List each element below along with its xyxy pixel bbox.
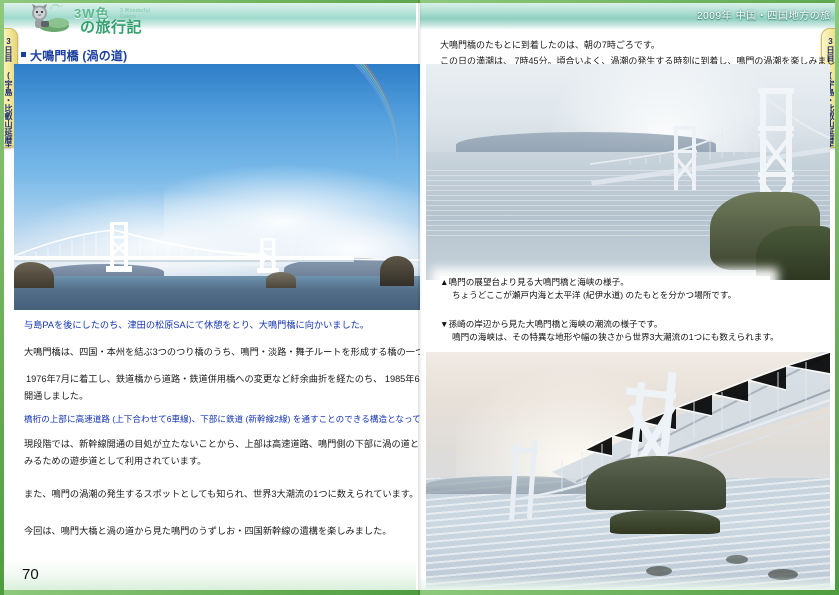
caption-bottom: ▼孫崎の岸辺から見た大鳴門橋と海峡の潮流の様子です。 鳴門の海峡は、その特異な地… bbox=[440, 318, 792, 348]
caption-line: 鳴門の海峡は、その特異な地形や幅の狭さから世界3大潮流の1つにも数えられます。 bbox=[440, 331, 792, 344]
onaruto-bridge-from-observatory-photo bbox=[426, 64, 830, 280]
header-title: 2009年 中国・四国地方の旅 bbox=[697, 7, 831, 22]
foreground-rock bbox=[380, 256, 414, 286]
paragraph-line: 今回は、鳴門大橋と渦の道から見た鳴門のうずしお・四国新幹線の遺構を楽しみました。 bbox=[24, 524, 392, 539]
paragraph-line: 1976年7月に着工し、鉄道橋から道路・鉄道併用橋への変更など紆余曲折を経たのち… bbox=[26, 372, 420, 387]
sidebar-index-tab-left-label: 3日目 (宇島・比叡山延暦寺) bbox=[4, 37, 13, 148]
page-title: 大鳴門橋 (渦の道) bbox=[30, 47, 127, 64]
paragraph-line: 現段階では、新幹線開通の目処が立たないことから、上部は高速道路、鳴門側の下部に渦… bbox=[24, 437, 420, 452]
binding-gutter bbox=[418, 0, 422, 595]
suspension-bridge-silhouette bbox=[14, 210, 420, 280]
caption-line: ちょうどここが瀬戸内海と太平洋 (紀伊水道) のたもとを分かつ場所です。 bbox=[440, 289, 770, 302]
rainbow-over-onaruto-bridge-photo bbox=[14, 64, 420, 310]
paragraph-line: みるための遊歩道として利用されています。 bbox=[24, 454, 206, 469]
site-logo[interactable]: 3W色 3 Wonderful Colors の旅行記 bbox=[28, 0, 158, 34]
paragraph-line: 開通しました。 bbox=[24, 389, 88, 404]
page-number: 70 bbox=[22, 566, 39, 583]
left-page: 3W色 3 Wonderful Colors の旅行記 3日目 (宇島・比叡山延… bbox=[0, 0, 420, 595]
paragraph-line: 大鳴門橋は、四国・本州を結ぶ3つのつり橋のうち、鳴門・淡路・舞子ルートを形成する… bbox=[24, 345, 420, 360]
shore-rock bbox=[646, 566, 672, 576]
paragraph-line: 橋桁の上部に高速道路 (上下合わせて6車線)、下部に鉄道 (新幹線2線) を通す… bbox=[24, 412, 420, 427]
logo-brand-tail: の旅行記 bbox=[80, 16, 142, 37]
right-page: 2009年 中国・四国地方の旅 3日目 (宇島・比叡山延暦寺) 大鳴門橋のたもと… bbox=[420, 0, 839, 595]
section-bullet-icon bbox=[21, 52, 26, 57]
islet-base bbox=[610, 510, 720, 534]
small-islet bbox=[266, 272, 296, 288]
caption-line: ▲鳴門の展望台より見る大鳴門橋と海峡の様子。 bbox=[440, 276, 770, 289]
onaruto-bridge-underside-tidal-current-photo bbox=[426, 352, 830, 590]
paragraph-line: 与島PAを後にしたのち、津田の松原SAにて休憩をとり、大鳴門橋に向かいました。 bbox=[24, 318, 369, 333]
sea-surface bbox=[14, 276, 420, 310]
caption-line: ▼孫崎の岸辺から見た大鳴門橋と海峡の潮流の様子です。 bbox=[440, 318, 792, 331]
foreground-islet bbox=[586, 456, 726, 510]
magazine-spread: 3W色 3 Wonderful Colors の旅行記 3日目 (宇島・比叡山延… bbox=[0, 0, 839, 595]
left-page-footer-band bbox=[4, 560, 416, 590]
intro-line: 大鳴門橋のたもとに到着したのは、朝の7時ごろです。 bbox=[440, 38, 660, 52]
paragraph-line: また、鳴門の渦潮の発生するスポットとしても知られ、世界3大潮流の1つに数えられて… bbox=[24, 487, 418, 502]
foreground-foliage bbox=[756, 226, 830, 280]
shore-rock bbox=[726, 555, 748, 564]
caption-top: ▲鳴門の展望台より見る大鳴門橋と海峡の様子。 ちょうどここが瀬戸内海と太平洋 (… bbox=[440, 276, 770, 306]
cat-mascot-icon bbox=[28, 2, 72, 34]
right-page-footer-band bbox=[420, 576, 835, 590]
